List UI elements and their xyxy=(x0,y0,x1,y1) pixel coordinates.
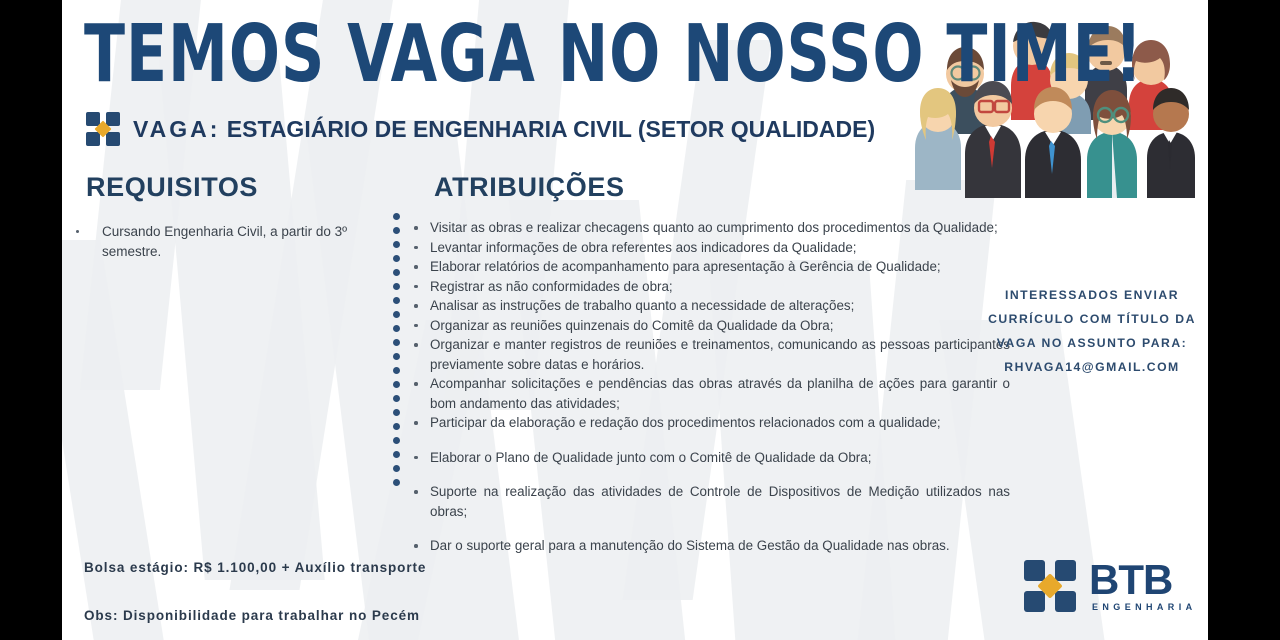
brand-tagline: ENGENHARIA xyxy=(1092,602,1197,612)
vacancy-label: VAGA: xyxy=(133,116,220,142)
atribuicoes-heading: ATRIBUIÇÕES xyxy=(434,172,625,203)
contact-line-1: INTERESSADOS ENVIAR xyxy=(982,283,1202,307)
list-item: Visitar as obras e realizar checagens qu… xyxy=(410,218,1010,238)
requisitos-list: Cursando Engenharia Civil, a partir do 3… xyxy=(70,222,390,262)
list-item: Analisar as instruções de trabalho quant… xyxy=(410,296,1010,316)
list-item: Levantar informações de obra referentes … xyxy=(410,238,1010,258)
list-item: Dar o suporte geral para a manutenção do… xyxy=(410,536,1010,556)
list-item: Registrar as não conformidades de obra; xyxy=(410,277,1010,297)
atribuicoes-list: Visitar as obras e realizar checagens qu… xyxy=(410,218,1010,556)
vacancy-title: ESTAGIÁRIO DE ENGENHARIA CIVIL (SETOR QU… xyxy=(227,116,875,142)
dotted-divider xyxy=(393,213,400,493)
poster-canvas: TEMOS VAGA NO NOSSO TIME! VAGA: ESTAGIÁR… xyxy=(62,0,1208,640)
vacancy-line: VAGA: ESTAGIÁRIO DE ENGENHARIA CIVIL (SE… xyxy=(86,112,875,146)
list-item: Elaborar o Plano de Qualidade junto com … xyxy=(410,448,1010,468)
contact-block: INTERESSADOS ENVIAR CURRÍCULO COM TÍTULO… xyxy=(982,283,1202,379)
list-item: Cursando Engenharia Civil, a partir do 3… xyxy=(70,222,390,262)
contact-line-3: VAGA NO ASSUNTO PARA: xyxy=(982,331,1202,355)
four-squares-diamond-icon xyxy=(1024,560,1076,612)
stipend-note: Bolsa estágio: R$ 1.100,00 + Auxílio tra… xyxy=(84,560,426,575)
requisitos-heading: REQUISITOS xyxy=(86,172,258,203)
brand-name: BTB xyxy=(1089,560,1197,600)
four-squares-diamond-icon xyxy=(86,112,120,146)
btb-wordmark: BTB ENGENHARIA xyxy=(1089,560,1197,612)
page-title: TEMOS VAGA NO NOSSO TIME! xyxy=(84,8,957,100)
list-item: Suporte na realização das atividades de … xyxy=(410,482,1010,521)
observation-note: Obs: Disponibilidade para trabalhar no P… xyxy=(84,608,420,623)
contact-email[interactable]: RHVAGA14@GMAIL.COM xyxy=(982,355,1202,379)
vacancy-text: VAGA: ESTAGIÁRIO DE ENGENHARIA CIVIL (SE… xyxy=(133,116,875,143)
list-item: Organizar e manter registros de reuniões… xyxy=(410,335,1010,374)
job-vacancy-poster: TEMOS VAGA NO NOSSO TIME! VAGA: ESTAGIÁR… xyxy=(0,0,1280,640)
list-item: Acompanhar solicitações e pendências das… xyxy=(410,374,1010,413)
btb-logo: BTB ENGENHARIA xyxy=(1024,560,1197,612)
contact-line-2: CURRÍCULO COM TÍTULO DA xyxy=(982,307,1202,331)
list-item: Organizar as reuniões quinzenais do Comi… xyxy=(410,316,1010,336)
list-item: Elaborar relatórios de acompanhamento pa… xyxy=(410,257,1010,277)
list-item: Participar da elaboração e redação dos p… xyxy=(410,413,1010,433)
